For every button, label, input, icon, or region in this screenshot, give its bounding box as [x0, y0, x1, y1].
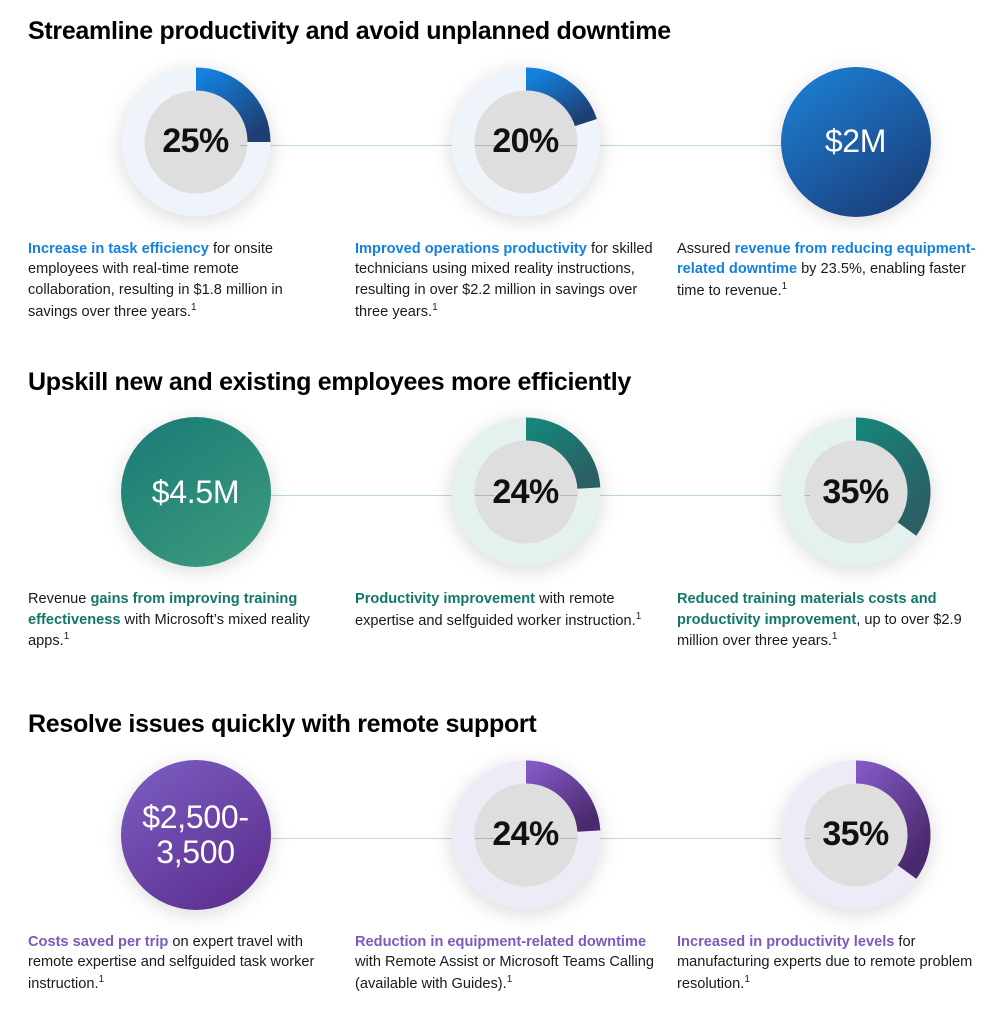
donut-chart: 25% [116, 62, 276, 222]
footnote-marker: 1 [99, 974, 105, 985]
metric-caption: Increase in task efficiency for onsite e… [28, 239, 328, 323]
section-title: Streamline productivity and avoid unplan… [0, 18, 1000, 46]
footnote-marker: 1 [432, 302, 438, 313]
caption-highlight: Improved operations productivity [355, 241, 587, 257]
section-upskill-employees: Upskill new and existing employees more … [0, 369, 1000, 690]
footnote-marker: 1 [744, 974, 750, 985]
donut-chart-svg [446, 62, 606, 222]
caption-row: Revenue gains from improving training ef… [0, 589, 1000, 689]
infographic-page: Streamline productivity and avoid unplan… [0, 18, 1000, 959]
metric-caption: Reduced training materials costs and pro… [677, 589, 977, 652]
donut-graphic [446, 62, 606, 222]
caption-prefix: Assured [677, 241, 735, 257]
caption-highlight: Reduction in equipment-related downtime [355, 934, 646, 950]
footnote-marker: 1 [191, 302, 197, 313]
metric-caption: Revenue gains from improving training ef… [28, 589, 328, 652]
donut-graphic [446, 755, 606, 915]
donut-graphic [446, 412, 606, 572]
footnote-marker: 1 [507, 974, 513, 985]
footnote-marker: 1 [636, 611, 642, 622]
donut-chart: 35% [776, 755, 936, 915]
donut-chart-svg [776, 412, 936, 572]
circle-graphic [116, 412, 276, 572]
metric-card[interactable]: 35% [768, 408, 943, 583]
solid-circle-svg [116, 755, 276, 915]
footnote-marker: 1 [782, 281, 788, 292]
metric-card[interactable]: $4.5M [108, 408, 283, 583]
solid-circle: $4.5M [116, 412, 276, 572]
footnote-marker: 1 [832, 631, 838, 642]
donut-chart: 24% [446, 755, 606, 915]
metric-card[interactable]: 35% [768, 751, 943, 926]
metric-caption: Productivity improvement with remote exp… [355, 589, 655, 631]
section-title: Upskill new and existing employees more … [0, 369, 1000, 397]
caption-highlight: Costs saved per trip [28, 934, 168, 950]
circle-graphic [116, 755, 276, 915]
solid-circle: $2M [776, 62, 936, 222]
metric-card[interactable]: 25% [108, 58, 283, 233]
visualization-row: $4.5M 24% [0, 408, 1000, 583]
donut-chart: 24% [446, 412, 606, 572]
caption-highlight: Increase in task efficiency [28, 241, 209, 257]
metric-card[interactable]: $2M [768, 58, 943, 233]
donut-chart-svg [446, 412, 606, 572]
solid-circle-svg [116, 412, 276, 572]
donut-graphic [776, 412, 936, 572]
caption-body: with Remote Assist or Microsoft Teams Ca… [355, 954, 654, 992]
metric-caption: Improved operations productivity for ski… [355, 239, 655, 323]
caption-row: Increase in task efficiency for onsite e… [0, 239, 1000, 339]
section-title: Resolve issues quickly with remote suppo… [0, 711, 1000, 739]
donut-graphic [116, 62, 276, 222]
caption-prefix: Revenue [28, 591, 90, 607]
solid-circle-svg [776, 62, 936, 222]
donut-chart: 20% [446, 62, 606, 222]
metric-card[interactable]: $2,500-3,500 [108, 751, 283, 926]
section-streamline-productivity: Streamline productivity and avoid unplan… [0, 18, 1000, 339]
donut-chart: 35% [776, 412, 936, 572]
visualization-row: $2,500-3,500 24% [0, 751, 1000, 926]
caption-highlight: Increased in productivity levels [677, 934, 894, 950]
section-resolve-issues: Resolve issues quickly with remote suppo… [0, 711, 1000, 1032]
metric-card[interactable]: 24% [438, 408, 613, 583]
footnote-marker: 1 [64, 631, 70, 642]
metric-card[interactable]: 20% [438, 58, 613, 233]
metric-caption: Assured revenue from reducing equipment-… [677, 239, 977, 302]
donut-chart-svg [116, 62, 276, 222]
solid-circle: $2,500-3,500 [116, 755, 276, 915]
caption-highlight: Productivity improvement [355, 591, 535, 607]
donut-chart-svg [446, 755, 606, 915]
caption-row: Costs saved per trip on expert travel wi… [0, 932, 1000, 1032]
visualization-row: 25% 20% [0, 58, 1000, 233]
donut-chart-svg [776, 755, 936, 915]
circle-graphic [776, 62, 936, 222]
donut-graphic [776, 755, 936, 915]
metric-card[interactable]: 24% [438, 751, 613, 926]
